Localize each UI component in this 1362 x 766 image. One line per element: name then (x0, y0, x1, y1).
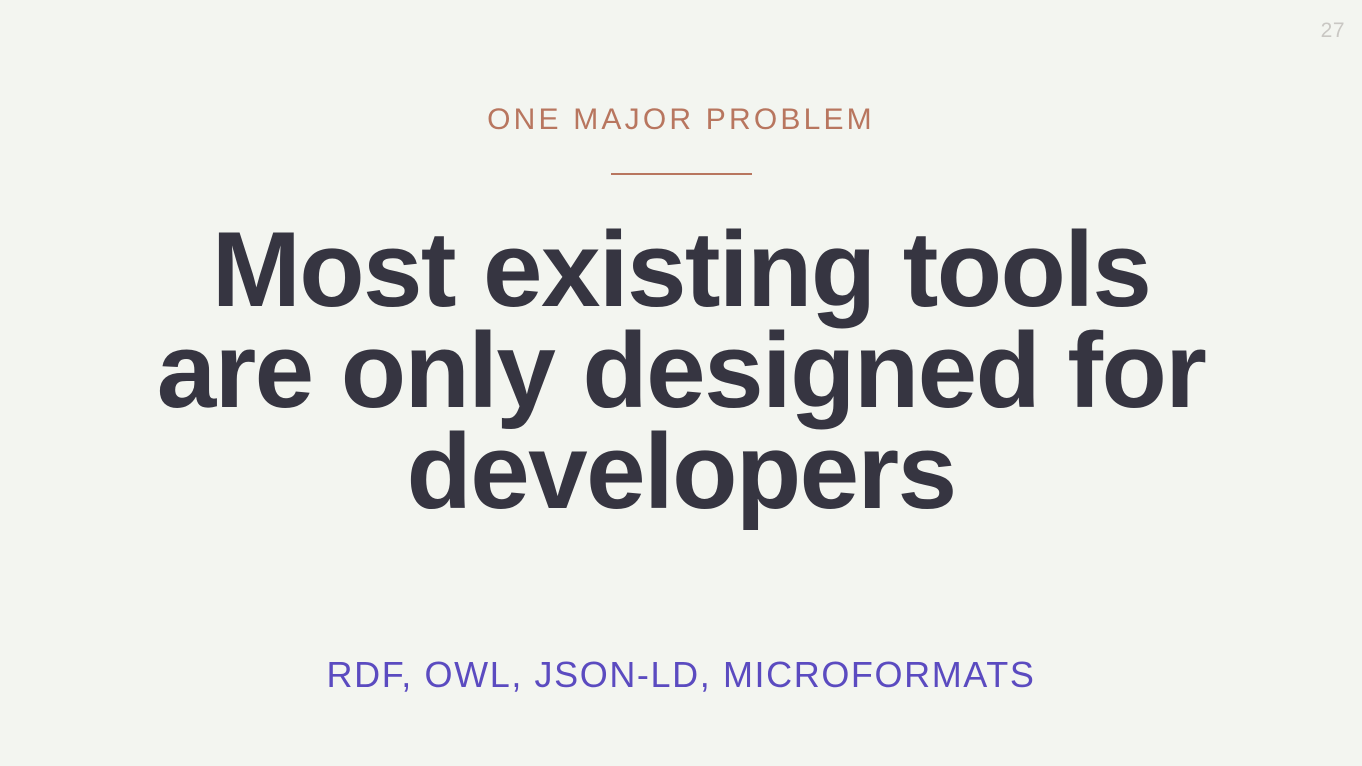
presentation-slide: 27 ONE MAJOR PROBLEM Most existing tools… (0, 0, 1362, 766)
slide-eyebrow-label: ONE MAJOR PROBLEM (487, 101, 875, 139)
headline-line-3: developers (157, 421, 1206, 522)
slide-content: ONE MAJOR PROBLEM Most existing tools ar… (0, 0, 1362, 696)
headline-line-1: Most existing tools (157, 219, 1206, 320)
slide-headline: Most existing tools are only designed fo… (157, 219, 1206, 522)
slide-subtitle: RDF, OWL, JSON-LD, MICROFORMATS (327, 654, 1036, 696)
divider-rule (611, 173, 752, 175)
headline-line-2: are only designed for (157, 320, 1206, 421)
